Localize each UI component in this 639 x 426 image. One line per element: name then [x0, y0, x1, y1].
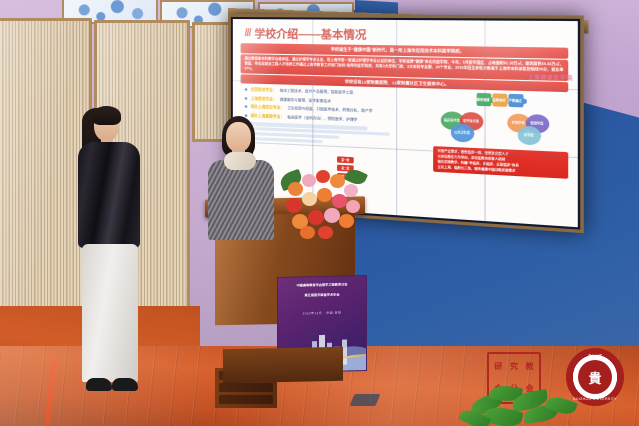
- bullet-heading: 填补上海空白专业：: [250, 105, 284, 111]
- bullet-heading: 上海首创专业：: [250, 97, 276, 103]
- shoe: [112, 378, 138, 391]
- venn-diagram-group: 临床医学类 医学技术类 公共卫生类 护理学类 管理学类 药学类: [431, 107, 571, 152]
- puzzle-piece-label: 服务健康: [476, 93, 491, 106]
- slide-title: 学校介绍——基本情况: [254, 25, 366, 43]
- bullet-heading: 全国首创专业：: [250, 88, 276, 94]
- venn-ellipse: 药学类: [517, 126, 540, 146]
- emblem-top-text: 貴州大学: [568, 354, 622, 359]
- led-panel-seam: [396, 20, 397, 215]
- puzzle-piece-label: 医教协同: [492, 94, 507, 108]
- potted-plant: [470, 382, 600, 426]
- banner-title-line1: 中国高等教育学会医学工程教育分会: [284, 282, 360, 288]
- bullet-heading: 填补上海紧缺专业：: [250, 114, 284, 120]
- puzzle-piece-label: 产教融合: [508, 94, 523, 108]
- venn-ellipse: 公共卫生类: [450, 124, 474, 143]
- hair-top: [92, 106, 121, 125]
- leather-jacket: [78, 142, 140, 248]
- slide-left-column: ◆ 全国首创专业： 临床工程技术、医疗产品管理、智能医学工程 ◆ 上海首创专业：…: [239, 85, 428, 172]
- bullet-body: 临床工程技术、医疗产品管理、智能医学工程: [280, 89, 353, 96]
- led-panel-seam: [484, 21, 485, 222]
- batch-tag: 第一批: [337, 156, 354, 163]
- bullet-body: 卫生检验与检疫、口腔医学技术、药物分析、助产学: [287, 106, 372, 114]
- banner-date: 2023年12月 · 中国·贵阳: [284, 310, 360, 316]
- bullet-dot-icon: ◆: [245, 87, 248, 92]
- puzzle-piece: 医教协同: [492, 94, 507, 108]
- conference-photo-scene: /// 学校介绍——基本情况 学校诞生于“健康中国”新时代，是一所上海市应用技术…: [0, 0, 639, 426]
- bullet-body: 临床医学（全科方向）、预防医学、护理学: [287, 115, 357, 123]
- slide-right-column: 服务健康 医教协同 产教融合 临床医学类: [431, 90, 571, 180]
- specialty-bullet-list: ◆ 全国首创专业： 临床工程技术、医疗产品管理、智能医学工程 ◆ 上海首创专业：…: [239, 85, 428, 126]
- floor-vent: [350, 394, 381, 406]
- venn-diagram-right: 护理学类 管理学类 药学类: [507, 114, 561, 149]
- bullet-body: 健康服务与管理、医学影像技术: [280, 98, 331, 105]
- shoe: [86, 378, 112, 391]
- flower-arrangement: [284, 166, 366, 242]
- lectern-base: [223, 347, 343, 384]
- bullet-dot-icon: ◆: [245, 95, 248, 100]
- scarf: [224, 152, 256, 170]
- trousers: [82, 244, 138, 382]
- puzzle-piece: 产教融合: [508, 94, 523, 108]
- screen-watermark: 上海健康医学院: [528, 73, 573, 82]
- puzzle-piece: 服务健康: [476, 93, 491, 106]
- slide-slash-marks: ///: [245, 27, 251, 39]
- banner-title-line2: 第五届医学装备学术年会: [284, 292, 360, 298]
- bullet-dot-icon: ◆: [245, 104, 248, 109]
- houndstooth-jacket: [208, 160, 274, 240]
